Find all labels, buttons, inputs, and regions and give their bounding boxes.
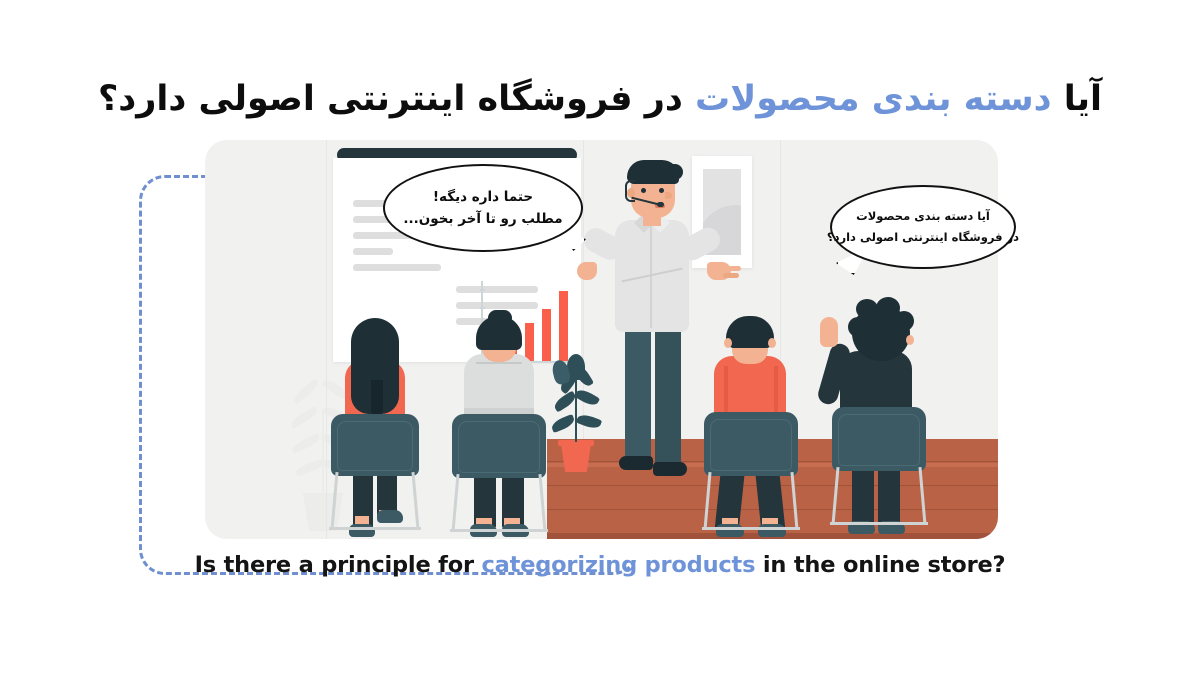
attendee-bubble: آیا دسته بندی محصولات در فروشگاه اینترنت… [830, 185, 1016, 269]
presenter-shoe-left [619, 456, 653, 470]
attendee-1-shoe [349, 524, 375, 537]
attendee-4 [818, 295, 928, 539]
attendee-3-shoe [716, 524, 744, 537]
presenter-shoe-right [653, 462, 687, 476]
attendee-2 [448, 310, 552, 539]
presenter-bubble-line-2: مطلب رو تا آخر بخون... [403, 208, 562, 230]
page-title: آیا دسته بندی محصولات در فروشگاه اینترنت… [0, 78, 1200, 122]
presenter-shirt [615, 220, 689, 332]
attendee-1 [325, 318, 425, 539]
attendee-3 [700, 312, 804, 539]
attendee-2-bun [488, 310, 512, 326]
headline-suffix: در فروشگاه اینترنتی اصولی دارد؟ [98, 79, 695, 119]
poster-canvas: آیا دسته بندی محصولات در فروشگاه اینترنت… [0, 0, 1200, 675]
attendee-bubble-line-2: در فروشگاه اینترنتی اصولی دارد؟ [827, 227, 1019, 248]
presenter-bubble-line-1: حتما داره دیگه! [433, 186, 533, 208]
presenter-leg-right [655, 324, 681, 466]
attendee-1-shoe [377, 510, 403, 523]
caption: Is there a principle for categorizing pr… [0, 552, 1200, 578]
presenter-hand-left [577, 262, 597, 280]
presenter-leg-left [625, 324, 651, 460]
attendee-bubble-line-1: آیا دسته بندی محصولات [856, 206, 990, 227]
attendee-3-hair [726, 316, 774, 348]
caption-highlight: categorizing products [482, 552, 756, 578]
presenter-bubble: حتما داره دیگه! مطلب رو تا آخر بخون... [383, 164, 583, 252]
headline-prefix: آیا [1052, 79, 1102, 119]
caption-suffix: in the online store? [755, 552, 1005, 578]
caption-prefix: Is there a principle for [195, 552, 482, 578]
attendee-4-raised-hand [820, 317, 838, 347]
headline-highlight: دسته بندی محصولات [695, 79, 1052, 119]
attendee-3-shoe [758, 524, 786, 537]
